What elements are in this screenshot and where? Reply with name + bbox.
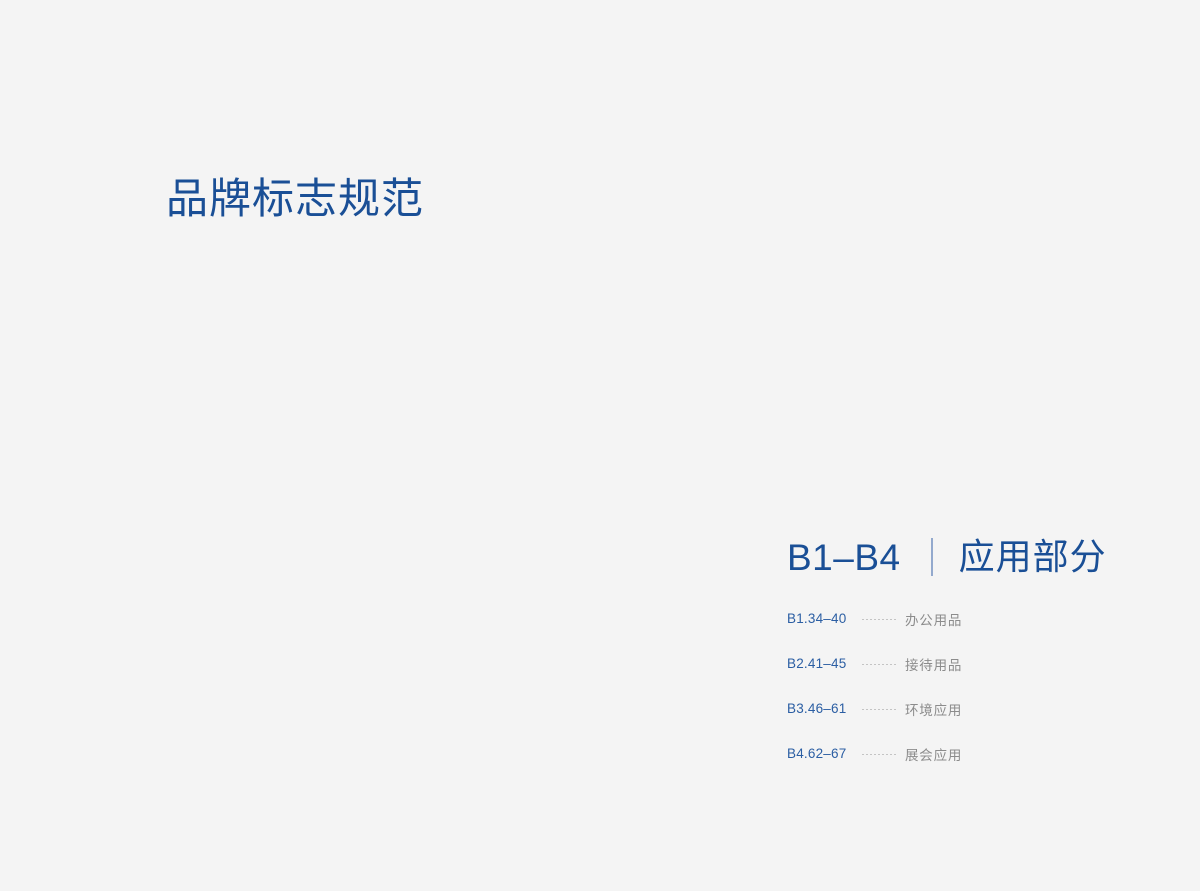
list-item[interactable]: B3.46–61 环境应用 (787, 698, 1147, 719)
list-item[interactable]: B2.41–45 接待用品 (787, 653, 1147, 674)
toc-item-label: 接待用品 (905, 654, 962, 674)
section-title: 应用部分 (959, 539, 1107, 575)
toc-item-code: B2.41–45 (787, 656, 853, 671)
list-item[interactable]: B4.62–67 展会应用 (787, 743, 1147, 764)
toc-item-label: 环境应用 (905, 699, 962, 719)
toc-item-code: B1.34–40 (787, 611, 853, 626)
list-item[interactable]: B1.34–40 办公用品 (787, 608, 1147, 629)
page-title: 品牌标志规范 (166, 174, 424, 224)
toc-item-label: 展会应用 (905, 744, 962, 764)
section-code: B1–B4 (787, 539, 901, 576)
toc-item-label: 办公用品 (905, 609, 962, 629)
vertical-divider-icon (931, 538, 933, 576)
dotted-leader-icon (861, 754, 897, 755)
toc-item-code: B3.46–61 (787, 701, 853, 716)
section-block: B1–B4 应用部分 B1.34–40 办公用品 B2.41–45 接待用品 B… (787, 533, 1147, 764)
dotted-leader-icon (861, 664, 897, 665)
dotted-leader-icon (861, 619, 897, 620)
section-heading: B1–B4 应用部分 (787, 533, 1147, 581)
table-of-contents-list: B1.34–40 办公用品 B2.41–45 接待用品 B3.46–61 环境应… (787, 608, 1147, 764)
brand-guideline-divider-page: 品牌标志规范 B1–B4 应用部分 B1.34–40 办公用品 B2.41–45… (0, 0, 1200, 891)
dotted-leader-icon (861, 709, 897, 710)
toc-item-code: B4.62–67 (787, 746, 853, 761)
